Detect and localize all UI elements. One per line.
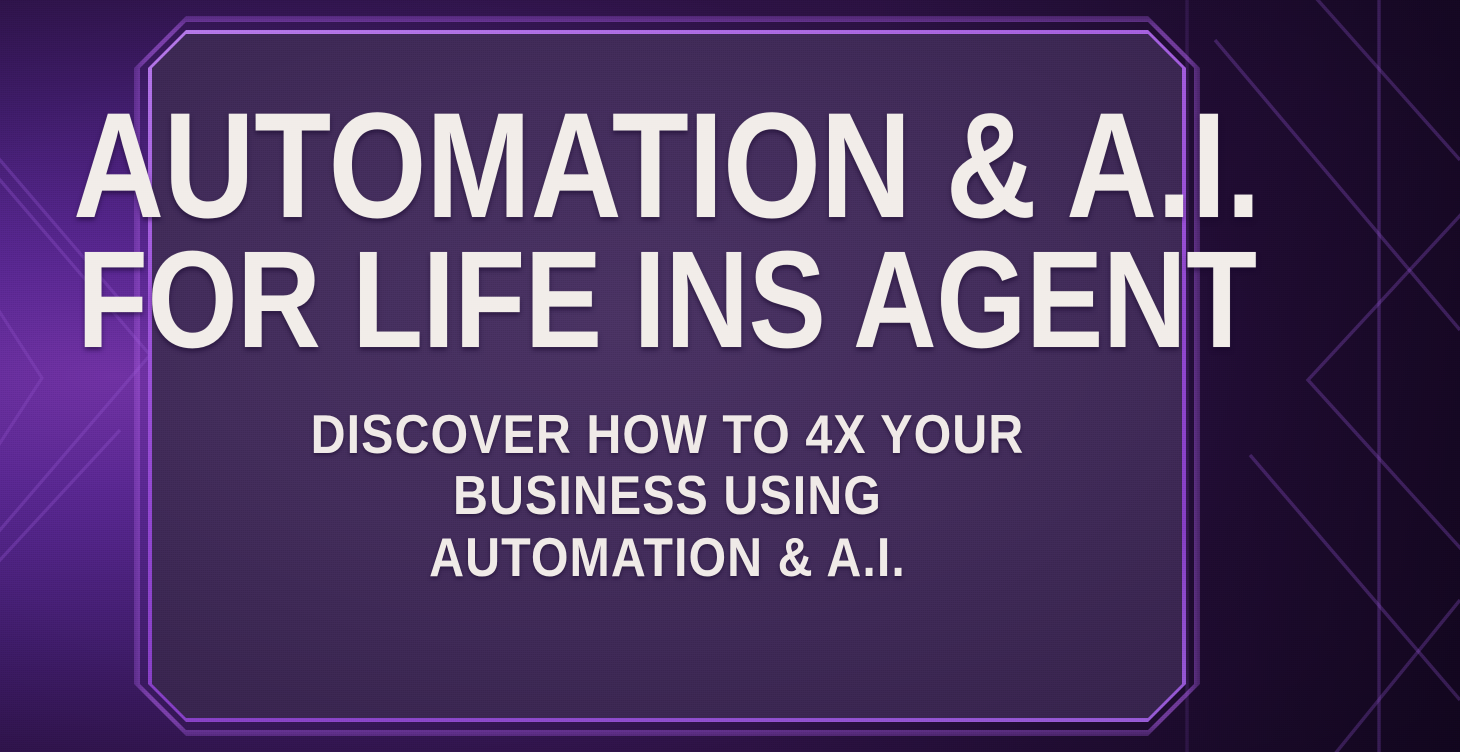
content-frame: AUTOMATION & A.I. FOR LIFE INS AGENT DIS… [148,30,1186,722]
promo-banner: AUTOMATION & A.I. FOR LIFE INS AGENT DIS… [0,0,1460,752]
frame-content: AUTOMATION & A.I. FOR LIFE INS AGENT DIS… [148,30,1186,722]
headline-line-2: FOR LIFE INS AGENT [73,236,1260,364]
page-title: AUTOMATION & A.I. FOR LIFE INS AGENT [73,96,1260,364]
subheadline-line-2: BUSINESS USING [310,465,1024,527]
subheadline-line-3: AUTOMATION & A.I. [310,527,1024,589]
page-subtitle: DISCOVER HOW TO 4X YOUR BUSINESS USING A… [310,404,1024,589]
subheadline-line-1: DISCOVER HOW TO 4X YOUR [310,404,1024,466]
